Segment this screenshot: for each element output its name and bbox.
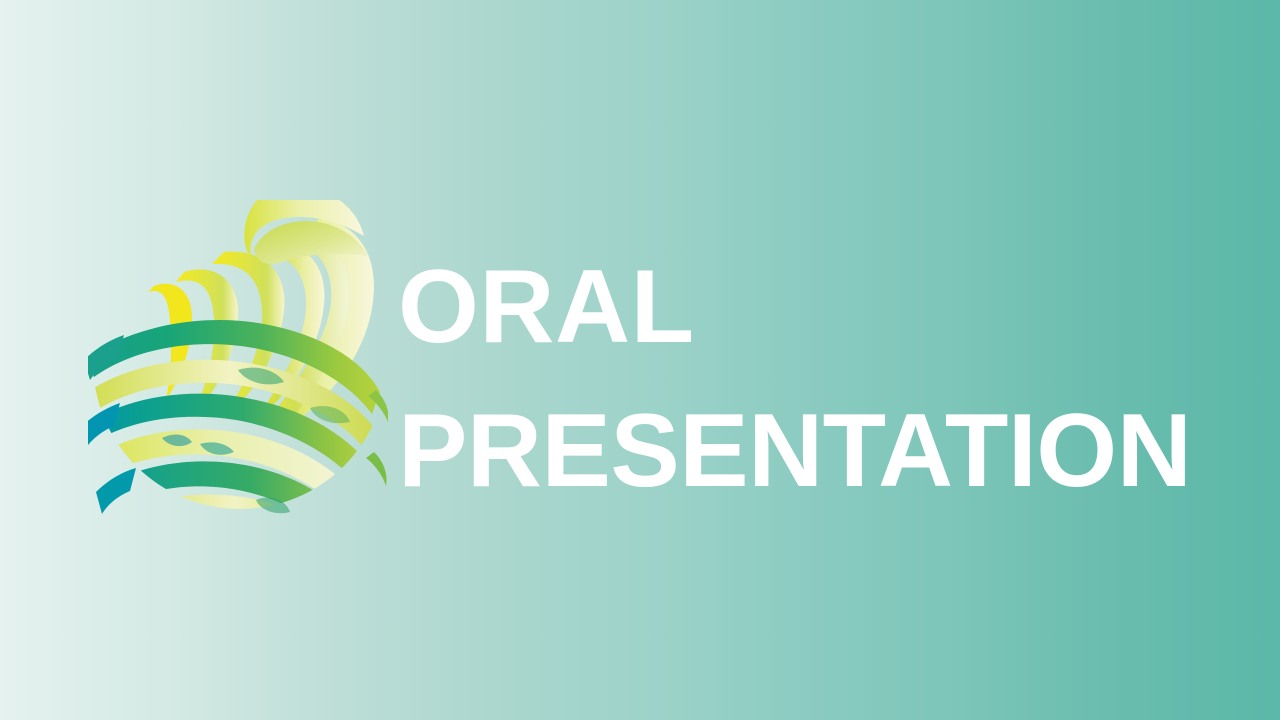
title-line-oral: ORAL	[398, 236, 1218, 380]
globe-ribbon-leaf-logo	[88, 200, 388, 525]
slide-canvas: ORAL PRESENTATION	[0, 0, 1280, 720]
title-line-presentation: PRESENTATION	[398, 380, 1218, 524]
globe-ribbon-ends	[88, 335, 166, 525]
page-title: ORAL PRESENTATION	[398, 236, 1218, 523]
